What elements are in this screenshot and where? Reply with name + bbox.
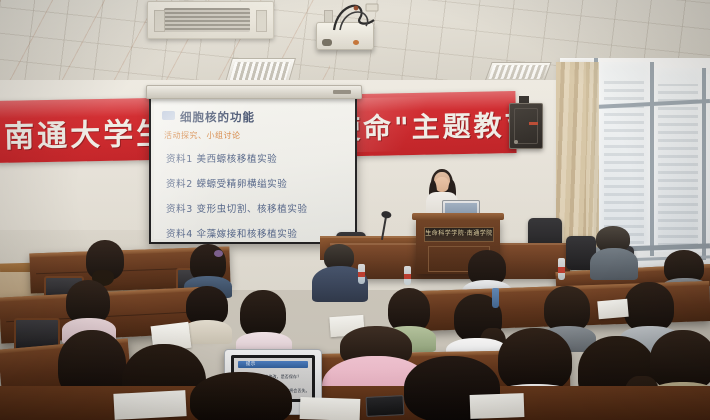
presentation-slide: 细胞核的功能 活动探究、小组讨论 资料1 美西螈核移植实验 资料2 蝾螈受精卵横… — [154, 101, 352, 239]
attendee-a1 — [84, 240, 126, 284]
lecture-hall-photo: 南通大学生命科 使命"主题教育 细胞核的功能 活动探究、小组讨论 资料1 美西螈… — [0, 0, 710, 420]
attendee-hair — [498, 328, 572, 392]
attendee-hair — [240, 290, 286, 338]
paper-sheet-front-1 — [113, 390, 186, 420]
ceiling-light-panel-2 — [484, 62, 551, 82]
ac-side-vent-right — [256, 10, 267, 32]
smartphone[interactable] — [366, 395, 405, 417]
attendee-a2 — [188, 244, 228, 292]
attendee-shoulders — [590, 248, 638, 280]
window-mullion-v3 — [702, 68, 706, 260]
projector-cables-icon — [330, 2, 382, 32]
ac-vent-grill — [164, 8, 250, 32]
water-bottle-4[interactable] — [492, 288, 499, 308]
attendee-hair — [650, 330, 710, 390]
projector-lens — [322, 39, 332, 46]
dialog-title-bar: 提示 — [238, 361, 308, 368]
dialog-title-text: 提示 — [238, 361, 308, 368]
speaker-bolt — [514, 140, 518, 144]
attendee-hair — [624, 282, 674, 332]
wall-speaker — [509, 103, 543, 149]
attendee-d2 — [184, 286, 230, 340]
paper-sheet-front-2 — [300, 397, 361, 420]
water-bottle-2[interactable] — [404, 266, 411, 285]
screen-case-logo — [333, 90, 351, 94]
ac-side-vent-left — [154, 10, 165, 32]
paper-sheet-3 — [597, 299, 628, 320]
podium-sign-text: 生命科学学院·南通学院 — [425, 228, 493, 240]
attendee-front-8 — [186, 372, 296, 420]
distant-building-2 — [658, 84, 698, 246]
speaker-brand-label — [529, 122, 538, 125]
water-bottle-1[interactable] — [358, 264, 365, 284]
ceiling-air-conditioner — [147, 1, 274, 39]
attendee-d3 — [236, 290, 290, 352]
presenter-face — [435, 177, 449, 192]
screen-roller-case[interactable] — [146, 85, 362, 99]
attendee-hair — [190, 372, 292, 420]
paper-sheet-front-3 — [470, 393, 525, 419]
podium-sign: 生命科学学院·南通学院 — [424, 227, 494, 242]
speaker-grill — [514, 108, 538, 144]
screen-glare — [154, 101, 264, 239]
projector-indicator-light — [353, 40, 359, 45]
water-bottle-3[interactable] — [558, 258, 565, 280]
podium-top — [412, 213, 504, 220]
banner-text-right: 使命"主题教育 — [332, 104, 536, 148]
hair-tie — [214, 250, 223, 257]
window-mullion-v2 — [650, 62, 654, 256]
projection-screen: 细胞核的功能 活动探究、小组讨论 资料1 美西螈核移植实验 资料2 蝾螈受精卵横… — [149, 96, 357, 244]
attendee-c2 — [592, 226, 634, 278]
